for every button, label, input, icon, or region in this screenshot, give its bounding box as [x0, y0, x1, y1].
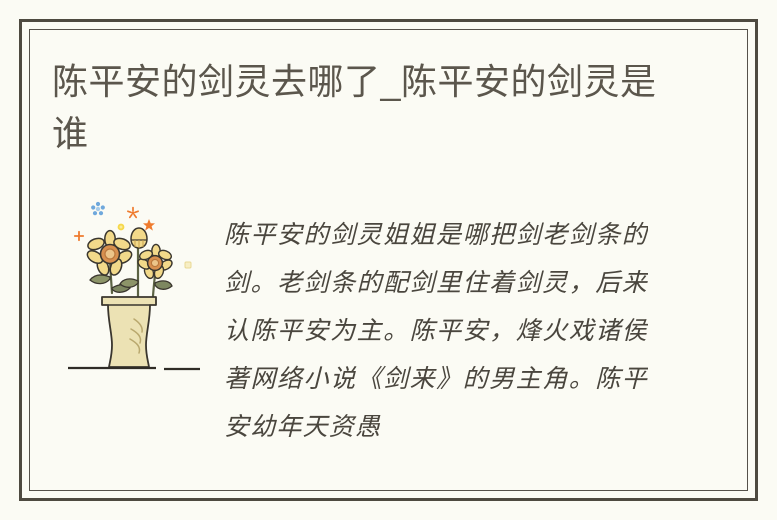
flower-bud	[131, 228, 147, 248]
sparkle-orange-flower-icon	[128, 208, 138, 218]
ground-line	[68, 368, 200, 369]
sunflower-large	[85, 231, 134, 277]
article-body-text: 陈平安的剑灵姐姐是哪把剑老剑条的剑。老剑条的配剑里住着剑灵，后来认陈平安为主。陈…	[224, 212, 648, 452]
sparkle-pale-square-icon	[185, 262, 191, 268]
article-page: 陈平安的剑灵去哪了_陈平安的剑灵是谁	[0, 0, 777, 520]
sparkle-orange-star-icon	[143, 219, 155, 231]
flower-vase	[102, 297, 156, 367]
sparkle-blue-flower-icon	[91, 202, 105, 215]
page-title: 陈平安的剑灵去哪了_陈平安的剑灵是谁	[52, 56, 692, 160]
sunflower-small	[136, 244, 174, 279]
sparkle-orange-plus-icon	[75, 232, 83, 240]
sparkle-yellow-dot-icon	[118, 224, 125, 231]
potted-sunflowers-illustration	[60, 193, 220, 378]
